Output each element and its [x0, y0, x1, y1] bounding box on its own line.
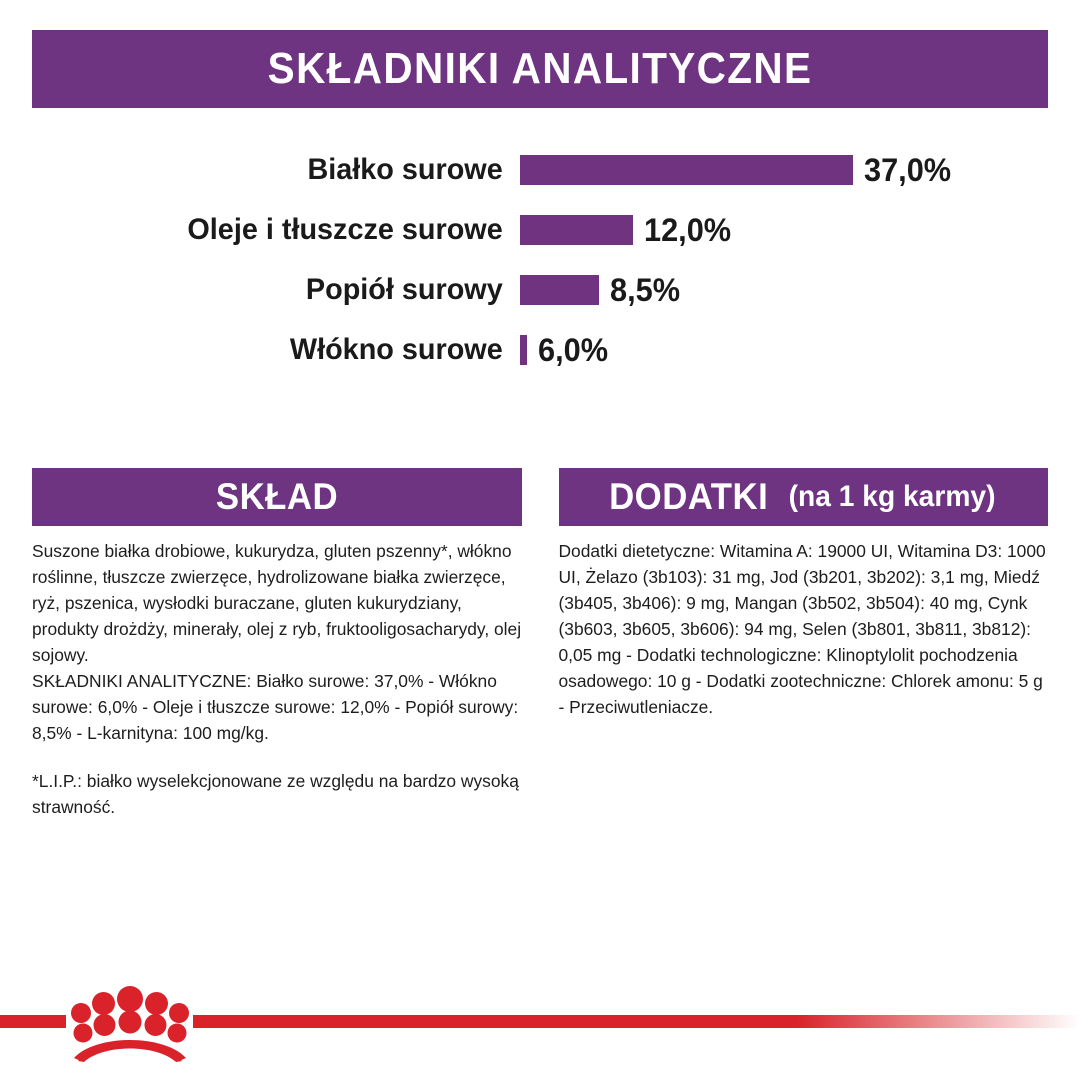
composition-panel-title: SKŁAD [216, 476, 338, 518]
chart-row: Białko surowe 37,0% [0, 140, 1080, 200]
additives-text: Dodatki dietetyczne: Witamina A: 19000 U… [559, 538, 1049, 720]
bar-label: Białko surowe [21, 153, 520, 187]
bar-track: 37,0% [520, 152, 1080, 189]
bar-fill [520, 155, 853, 185]
composition-panel-body: Suszone białka drobiowe, kukurydza, glut… [32, 526, 522, 820]
bar-value: 37,0% [864, 152, 951, 189]
bar-label: Włókno surowe [21, 333, 520, 367]
composition-analytical-text: SKŁADNIKI ANALITYCZNE: Białko surowe: 37… [32, 668, 522, 746]
analytical-constituents-banner: SKŁADNIKI ANALITYCZNE [32, 30, 1048, 108]
bar-value: 8,5% [610, 272, 680, 309]
composition-ingredients-text: Suszone białka drobiowe, kukurydza, glut… [32, 538, 522, 668]
chart-row: Włókno surowe 6,0% [0, 320, 1080, 380]
composition-footnote-text: *L.I.P.: białko wyselekcjonowane ze wzgl… [32, 768, 522, 820]
bar-label: Oleje i tłuszcze surowe [21, 213, 520, 247]
additives-panel-header: DODATKI (na 1 kg karmy) [559, 468, 1049, 526]
info-panels: SKŁAD Suszone białka drobiowe, kukurydza… [32, 468, 1048, 820]
bar-value: 12,0% [644, 212, 731, 249]
bar-fill [520, 215, 633, 245]
chart-row: Oleje i tłuszcze surowe 12,0% [0, 200, 1080, 260]
bar-track: 6,0% [520, 332, 1080, 369]
bar-track: 8,5% [520, 272, 1080, 309]
bar-fill [520, 335, 527, 365]
bar-label: Popiół surowy [21, 273, 520, 307]
additives-panel-body: Dodatki dietetyczne: Witamina A: 19000 U… [559, 526, 1049, 720]
chart-row: Popiół surowy 8,5% [0, 260, 1080, 320]
page-title: SKŁADNIKI ANALITYCZNE [268, 44, 813, 94]
composition-panel-header: SKŁAD [32, 468, 522, 526]
royal-canin-crown-logo-icon [66, 982, 194, 1062]
additives-panel-subtitle: (na 1 kg karmy) [789, 480, 996, 514]
additives-panel: DODATKI (na 1 kg karmy) Dodatki dietetyc… [559, 468, 1049, 820]
additives-panel-title: DODATKI [609, 476, 768, 518]
bar-fill [520, 275, 599, 305]
footer-rule-right [193, 1015, 1080, 1028]
footer-rule-left [0, 1015, 66, 1028]
footer [0, 960, 1080, 1080]
bar-value: 6,0% [538, 332, 608, 369]
bar-track: 12,0% [520, 212, 1080, 249]
analytical-constituents-chart: Białko surowe 37,0% Oleje i tłuszcze sur… [0, 140, 1080, 380]
composition-panel: SKŁAD Suszone białka drobiowe, kukurydza… [32, 468, 522, 820]
